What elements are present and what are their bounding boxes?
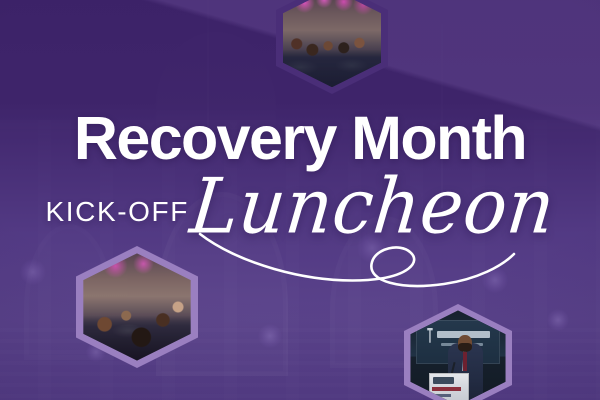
speaker-tie — [463, 352, 466, 371]
audience-photo — [283, 0, 382, 87]
podium-banner-line-1 — [432, 387, 461, 391]
recovery-month-banner: Recovery Month KICK-OFF Luncheon — [0, 0, 600, 400]
speaker-photo — [410, 310, 505, 400]
hexagon-photo-clip — [283, 0, 382, 87]
hexagon-border — [404, 304, 512, 400]
hex-top-audience — [276, 0, 388, 94]
hexagon-border — [76, 246, 198, 368]
podium-logo — [433, 377, 454, 384]
attendees-photo — [83, 253, 190, 360]
podium-banner-line-2 — [432, 394, 451, 397]
hex-right-speaker — [404, 304, 512, 400]
hex-left-attendees — [76, 246, 198, 368]
hexagon-border — [276, 0, 388, 94]
hexagon-photo-clip — [83, 253, 190, 360]
hexagon-photo-clip — [410, 310, 505, 400]
